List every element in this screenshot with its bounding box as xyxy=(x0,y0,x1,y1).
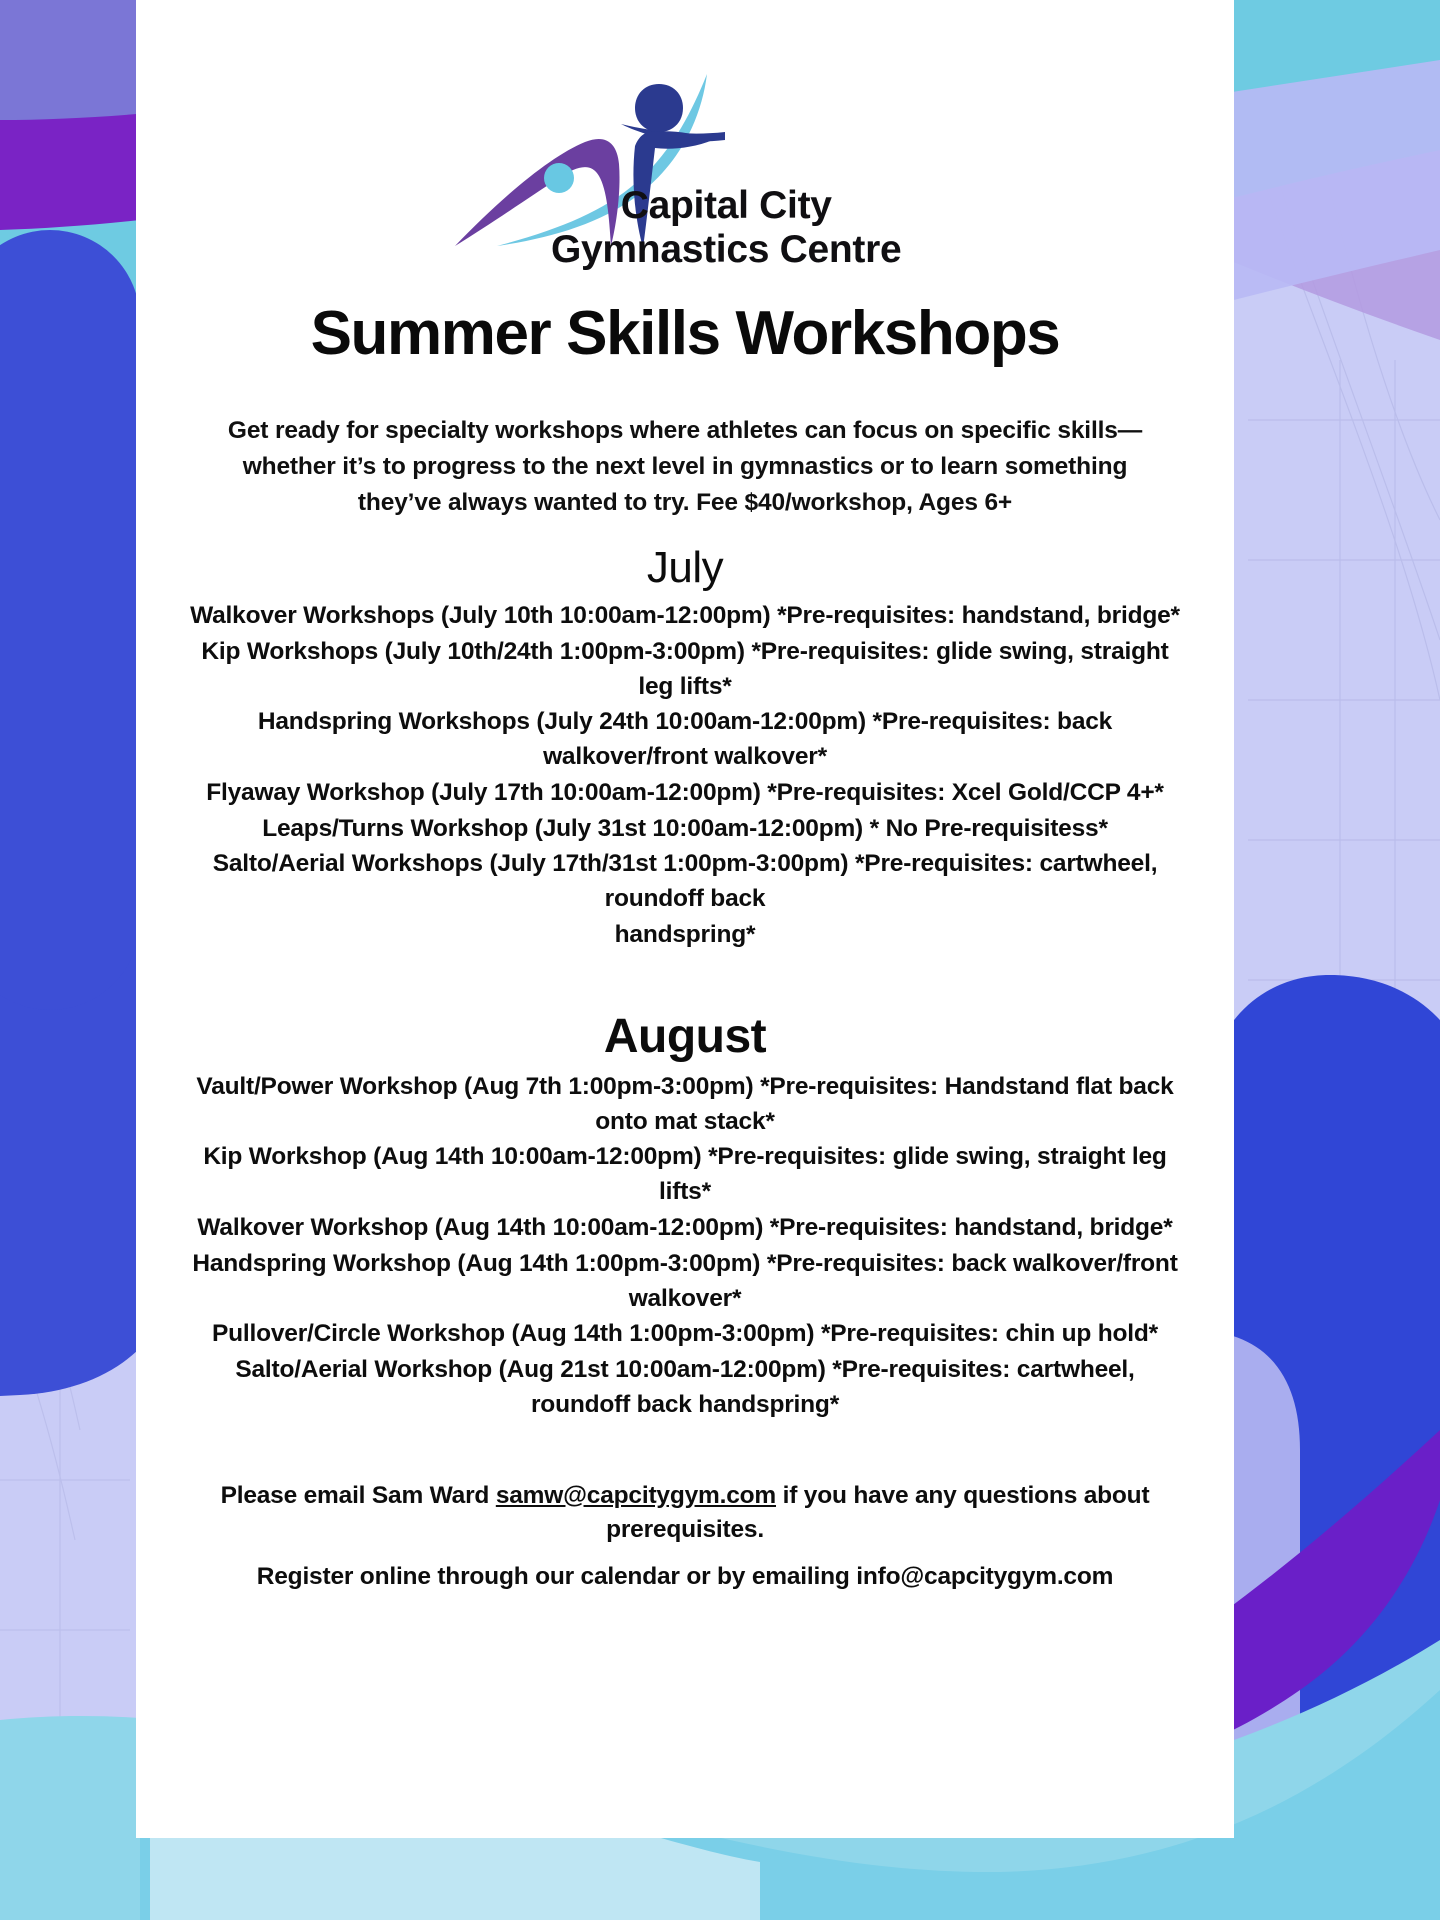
footer-register-line: Register online through our calendar or … xyxy=(200,1560,1170,1595)
list-item: Kip Workshops (July 10th/24th 1:00pm-3:0… xyxy=(186,635,1184,705)
flyer-poster: Capital City Gymnastics Centre Summer Sk… xyxy=(0,0,1440,1920)
list-item: Kip Workshop (Aug 14th 10:00am-12:00pm) … xyxy=(186,1140,1184,1210)
list-item: Flyaway Workshop (July 17th 10:00am-12:0… xyxy=(186,776,1184,811)
list-item: Vault/Power Workshop (Aug 7th 1:00pm-3:0… xyxy=(186,1070,1184,1140)
section-heading-july: July xyxy=(176,543,1194,593)
contact-footer: Please email Sam Ward samw@capcitygym.co… xyxy=(200,1479,1170,1595)
section-heading-august: August xyxy=(176,1009,1194,1064)
list-item: Handspring Workshops (July 24th 10:00am-… xyxy=(186,705,1184,775)
list-item: Handspring Workshop (Aug 14th 1:00pm-3:0… xyxy=(186,1247,1184,1317)
list-item: Walkover Workshops (July 10th 10:00am-12… xyxy=(186,599,1184,634)
brand-logo: Capital City Gymnastics Centre xyxy=(176,78,1194,308)
contact-email-link[interactable]: samw@capcitygym.com xyxy=(496,1482,776,1509)
footer-contact-line: Please email Sam Ward samw@capcitygym.co… xyxy=(200,1479,1170,1549)
intro-paragraph: Get ready for specialty workshops where … xyxy=(214,413,1156,521)
list-item: Salto/Aerial Workshops (July 17th/31st 1… xyxy=(186,847,1184,917)
list-item: handspring* xyxy=(186,918,1184,953)
list-item: Leaps/Turns Workshop (July 31st 10:00am-… xyxy=(186,812,1184,847)
brand-wordmark: Capital City Gymnastics Centre xyxy=(551,186,901,271)
list-item: Salto/Aerial Workshop (Aug 21st 10:00am-… xyxy=(186,1353,1184,1423)
flyer-content-card: Capital City Gymnastics Centre Summer Sk… xyxy=(136,0,1234,1838)
august-workshop-list: Vault/Power Workshop (Aug 7th 1:00pm-3:0… xyxy=(186,1070,1184,1423)
brand-name-line1: Capital City xyxy=(551,186,901,227)
brand-name-line2: Gymnastics Centre xyxy=(551,230,901,271)
list-item: Pullover/Circle Workshop (Aug 14th 1:00p… xyxy=(186,1317,1184,1352)
page-title: Summer Skills Workshops xyxy=(176,298,1194,369)
list-item: Walkover Workshop (Aug 14th 10:00am-12:0… xyxy=(186,1211,1184,1246)
july-workshop-list: Walkover Workshops (July 10th 10:00am-12… xyxy=(186,599,1184,953)
footer-text-before: Please email Sam Ward xyxy=(221,1482,496,1509)
